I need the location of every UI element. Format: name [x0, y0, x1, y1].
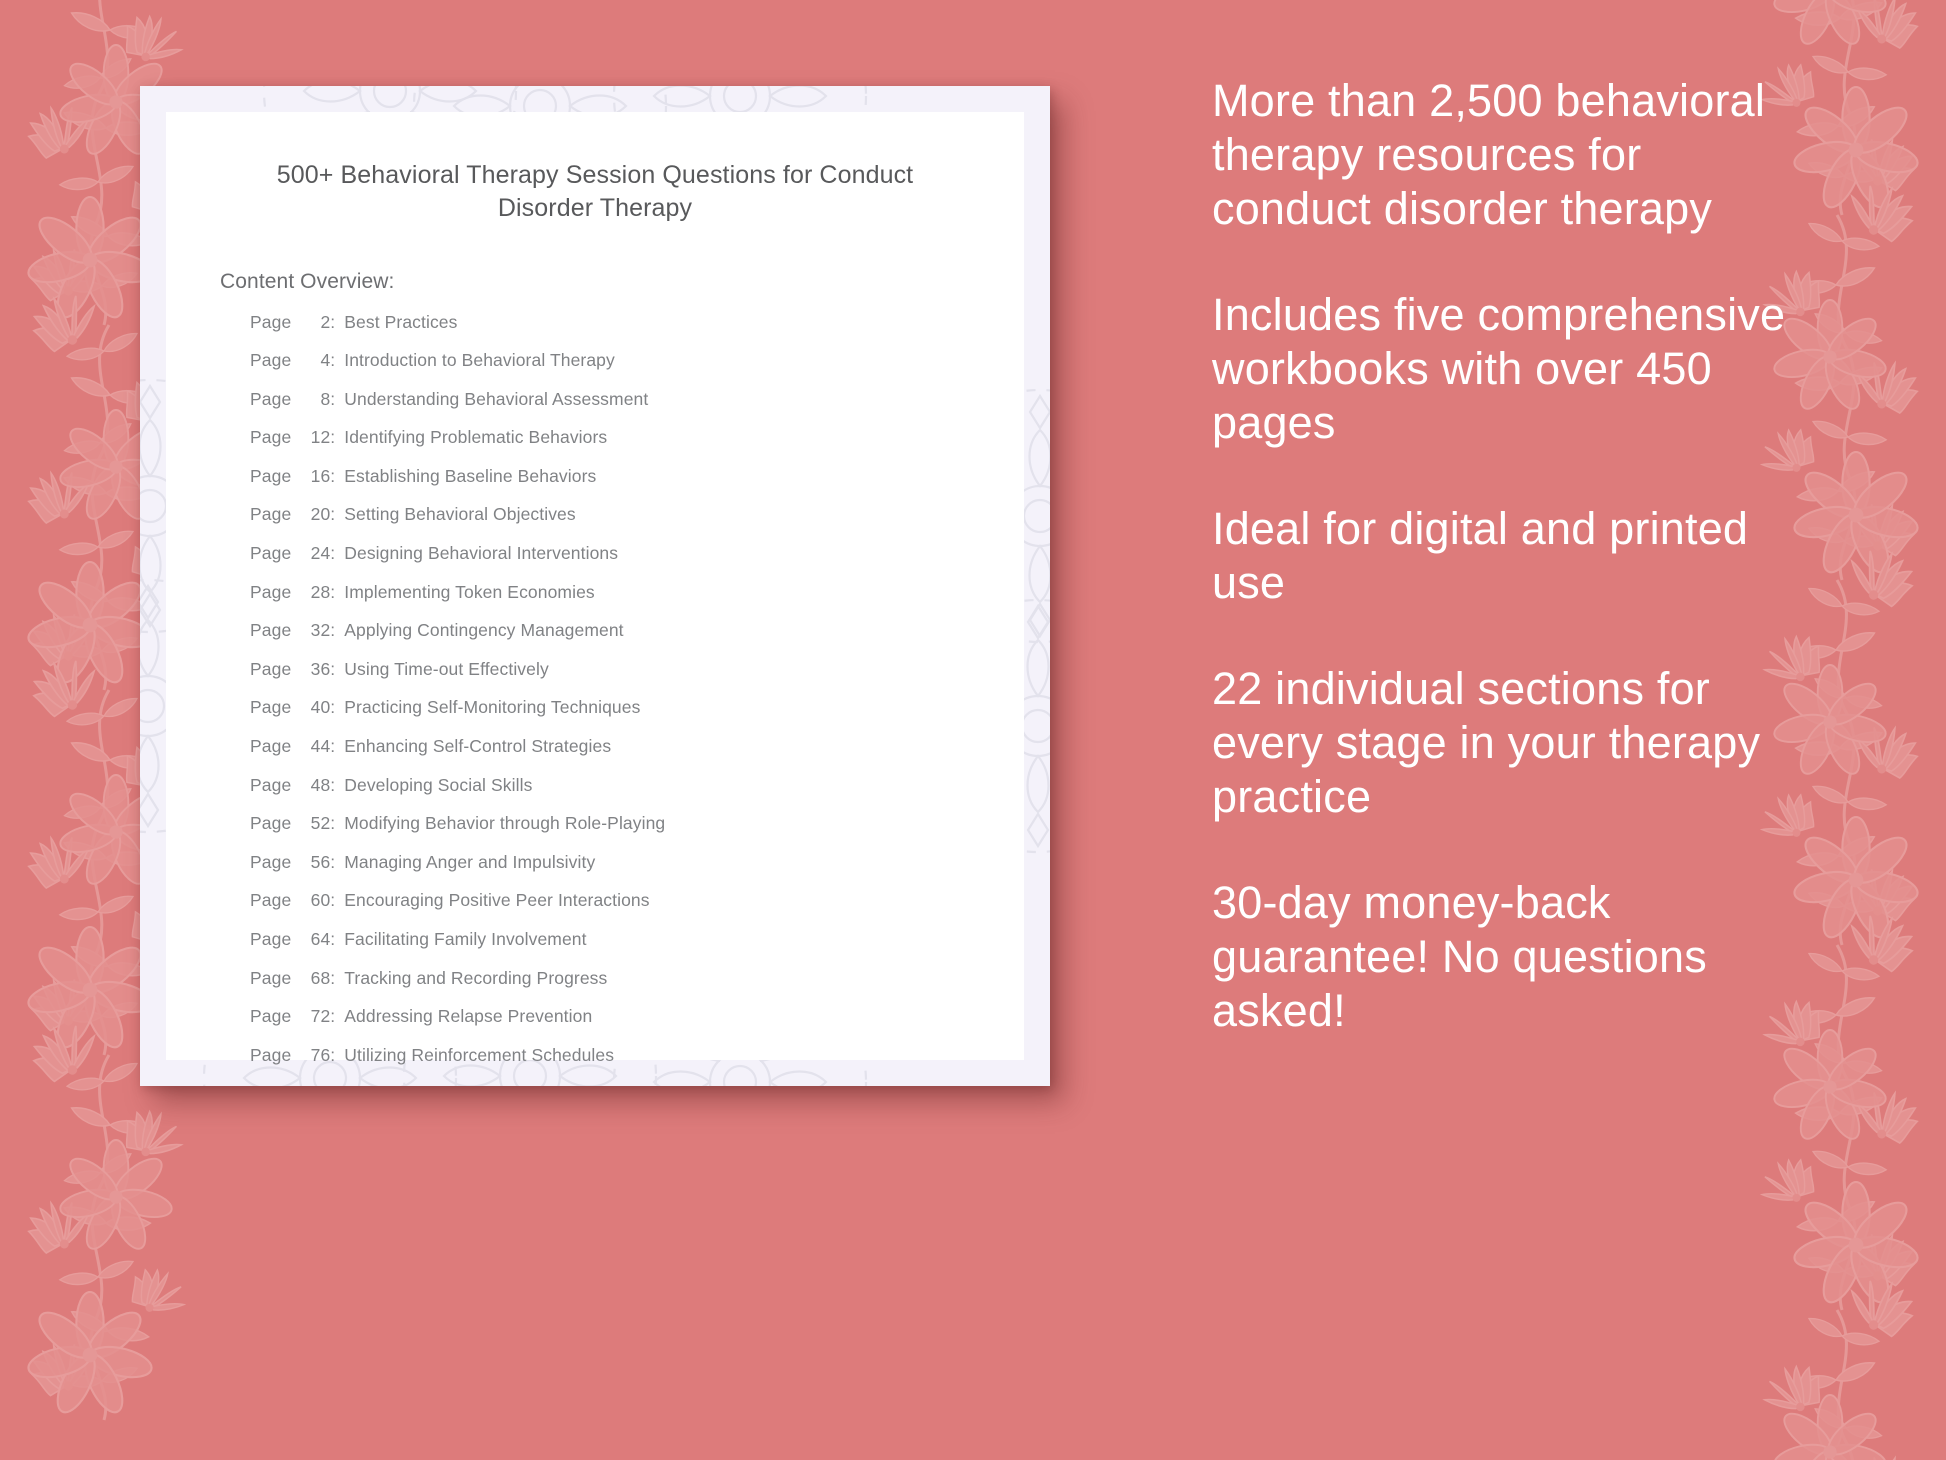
toc-page-number: 4: [296, 350, 330, 371]
toc-entry-title: Utilizing Reinforcement Schedules: [344, 1045, 614, 1066]
toc-page-word: Page: [250, 389, 291, 410]
toc-colon: :: [330, 929, 335, 950]
toc-page-number: 60: [296, 890, 330, 911]
toc-entry[interactable]: Page2:Best Practices: [250, 312, 1024, 351]
toc-page-number: 20: [296, 504, 330, 525]
toc-entry-title: Managing Anger and Impulsivity: [344, 852, 595, 873]
promo-text: Includes five comprehensive workbooks wi…: [1212, 288, 1812, 450]
toc-entry-title: Facilitating Family Involvement: [344, 929, 586, 950]
toc-page-number: 72: [296, 1006, 330, 1027]
toc-entry[interactable]: Page40:Practicing Self-Monitoring Techni…: [250, 697, 1024, 736]
toc-page-number: 28: [296, 582, 330, 603]
document-title: 500+ Behavioral Therapy Session Question…: [245, 112, 945, 226]
marketing-copy-panel: More than 2,500 behavioral therapy resou…: [1212, 74, 1812, 1038]
toc-colon: :: [330, 659, 335, 680]
toc-entry[interactable]: Page56:Managing Anger and Impulsivity: [250, 852, 1024, 891]
toc-entry-title: Enhancing Self-Control Strategies: [344, 736, 611, 757]
toc-entry[interactable]: Page80:Adjusting Interventions for Effec…: [250, 1083, 1024, 1086]
toc-page-number: 16: [296, 466, 330, 487]
toc-page-word: Page: [250, 659, 291, 680]
toc-entry-title: Establishing Baseline Behaviors: [344, 466, 596, 487]
toc-entry-title: Introduction to Behavioral Therapy: [344, 350, 615, 371]
toc-page-number: 56: [296, 852, 330, 873]
table-of-contents: Page2:Best PracticesPage4:Introduction t…: [166, 312, 1024, 1087]
toc-colon: :: [330, 1045, 335, 1066]
toc-entry[interactable]: Page16:Establishing Baseline Behaviors: [250, 466, 1024, 505]
toc-page-word: Page: [250, 582, 291, 603]
toc-page-word: Page: [250, 427, 291, 448]
toc-entry[interactable]: Page48:Developing Social Skills: [250, 775, 1024, 814]
toc-page-number: 40: [296, 697, 330, 718]
toc-colon: :: [330, 620, 335, 641]
toc-page-word: Page: [250, 1006, 291, 1027]
toc-colon: :: [330, 697, 335, 718]
toc-page-number: 48: [296, 775, 330, 796]
toc-page-word: Page: [250, 852, 291, 873]
toc-entry-title: Understanding Behavioral Assessment: [344, 389, 648, 410]
toc-entry[interactable]: Page60:Encouraging Positive Peer Interac…: [250, 890, 1024, 929]
promo-text: 30-day money-back guarantee! No question…: [1212, 876, 1812, 1038]
toc-page-word: Page: [250, 620, 291, 641]
toc-entry[interactable]: Page76:Utilizing Reinforcement Schedules: [250, 1045, 1024, 1084]
toc-entry-title: Practicing Self-Monitoring Techniques: [344, 697, 640, 718]
toc-page-number: 36: [296, 659, 330, 680]
toc-page-number: 32: [296, 620, 330, 641]
toc-page-word: Page: [250, 929, 291, 950]
toc-colon: :: [330, 890, 335, 911]
promo-text: 22 individual sections for every stage i…: [1212, 662, 1812, 824]
toc-entry[interactable]: Page8:Understanding Behavioral Assessmen…: [250, 389, 1024, 428]
toc-colon: :: [330, 543, 335, 564]
document-paper: 500+ Behavioral Therapy Session Question…: [166, 112, 1024, 1060]
toc-entry-title: Encouraging Positive Peer Interactions: [344, 890, 649, 911]
toc-entry[interactable]: Page44:Enhancing Self-Control Strategies: [250, 736, 1024, 775]
toc-entry-title: Developing Social Skills: [344, 775, 532, 796]
toc-page-number: 80: [296, 1083, 330, 1086]
toc-page-number: 68: [296, 968, 330, 989]
toc-colon: :: [330, 1006, 335, 1027]
toc-entry[interactable]: Page4:Introduction to Behavioral Therapy: [250, 350, 1024, 389]
toc-colon: :: [330, 968, 335, 989]
toc-page-word: Page: [250, 504, 291, 525]
toc-colon: :: [330, 466, 335, 487]
toc-colon: :: [330, 312, 335, 333]
toc-entry[interactable]: Page28:Implementing Token Economies: [250, 582, 1024, 621]
toc-page-word: Page: [250, 466, 291, 487]
toc-colon: :: [330, 1083, 335, 1086]
toc-entry-title: Setting Behavioral Objectives: [344, 504, 576, 525]
toc-page-number: 64: [296, 929, 330, 950]
toc-colon: :: [330, 504, 335, 525]
toc-entry-title: Modifying Behavior through Role-Playing: [344, 813, 665, 834]
toc-entry[interactable]: Page68:Tracking and Recording Progress: [250, 968, 1024, 1007]
toc-page-number: 8: [296, 389, 330, 410]
toc-page-word: Page: [250, 350, 291, 371]
toc-page-word: Page: [250, 813, 291, 834]
toc-page-word: Page: [250, 736, 291, 757]
toc-page-word: Page: [250, 1045, 291, 1066]
toc-entry-title: Implementing Token Economies: [344, 582, 595, 603]
toc-entry[interactable]: Page12:Identifying Problematic Behaviors: [250, 427, 1024, 466]
toc-colon: :: [330, 852, 335, 873]
toc-page-number: 44: [296, 736, 330, 757]
toc-page-word: Page: [250, 1083, 291, 1086]
toc-page-number: 52: [296, 813, 330, 834]
toc-page-number: 24: [296, 543, 330, 564]
content-overview-label: Content Overview:: [166, 270, 1024, 294]
promo-text: Ideal for digital and printed use: [1212, 502, 1812, 610]
toc-page-word: Page: [250, 890, 291, 911]
toc-page-number: 12: [296, 427, 330, 448]
toc-page-word: Page: [250, 543, 291, 564]
toc-page-number: 2: [296, 312, 330, 333]
toc-page-word: Page: [250, 697, 291, 718]
toc-colon: :: [330, 582, 335, 603]
toc-entry-title: Designing Behavioral Interventions: [344, 543, 618, 564]
toc-colon: :: [330, 389, 335, 410]
toc-entry[interactable]: Page24:Designing Behavioral Intervention…: [250, 543, 1024, 582]
toc-page-number: 76: [296, 1045, 330, 1066]
toc-entry-title: Using Time-out Effectively: [344, 659, 549, 680]
toc-entry-title: Adjusting Interventions for Effectivenes…: [344, 1083, 659, 1086]
toc-page-word: Page: [250, 968, 291, 989]
toc-entry[interactable]: Page36:Using Time-out Effectively: [250, 659, 1024, 698]
toc-colon: :: [330, 813, 335, 834]
toc-colon: :: [330, 427, 335, 448]
toc-entry-title: Applying Contingency Management: [344, 620, 623, 641]
toc-entry-title: Best Practices: [344, 312, 457, 333]
toc-entry-title: Tracking and Recording Progress: [344, 968, 607, 989]
toc-entry[interactable]: Page64:Facilitating Family Involvement: [250, 929, 1024, 968]
toc-page-word: Page: [250, 775, 291, 796]
toc-entry[interactable]: Page52:Modifying Behavior through Role-P…: [250, 813, 1024, 852]
toc-colon: :: [330, 350, 335, 371]
poster-canvas: 500+ Behavioral Therapy Session Question…: [0, 0, 1946, 1460]
toc-entry[interactable]: Page20:Setting Behavioral Objectives: [250, 504, 1024, 543]
toc-entry-title: Addressing Relapse Prevention: [344, 1006, 592, 1027]
toc-colon: :: [330, 736, 335, 757]
toc-colon: :: [330, 775, 335, 796]
toc-entry[interactable]: Page32:Applying Contingency Management: [250, 620, 1024, 659]
toc-entry[interactable]: Page72:Addressing Relapse Prevention: [250, 1006, 1024, 1045]
toc-entry-title: Identifying Problematic Behaviors: [344, 427, 607, 448]
document-page-card: 500+ Behavioral Therapy Session Question…: [140, 86, 1050, 1086]
promo-text: More than 2,500 behavioral therapy resou…: [1212, 74, 1812, 236]
toc-page-word: Page: [250, 312, 291, 333]
